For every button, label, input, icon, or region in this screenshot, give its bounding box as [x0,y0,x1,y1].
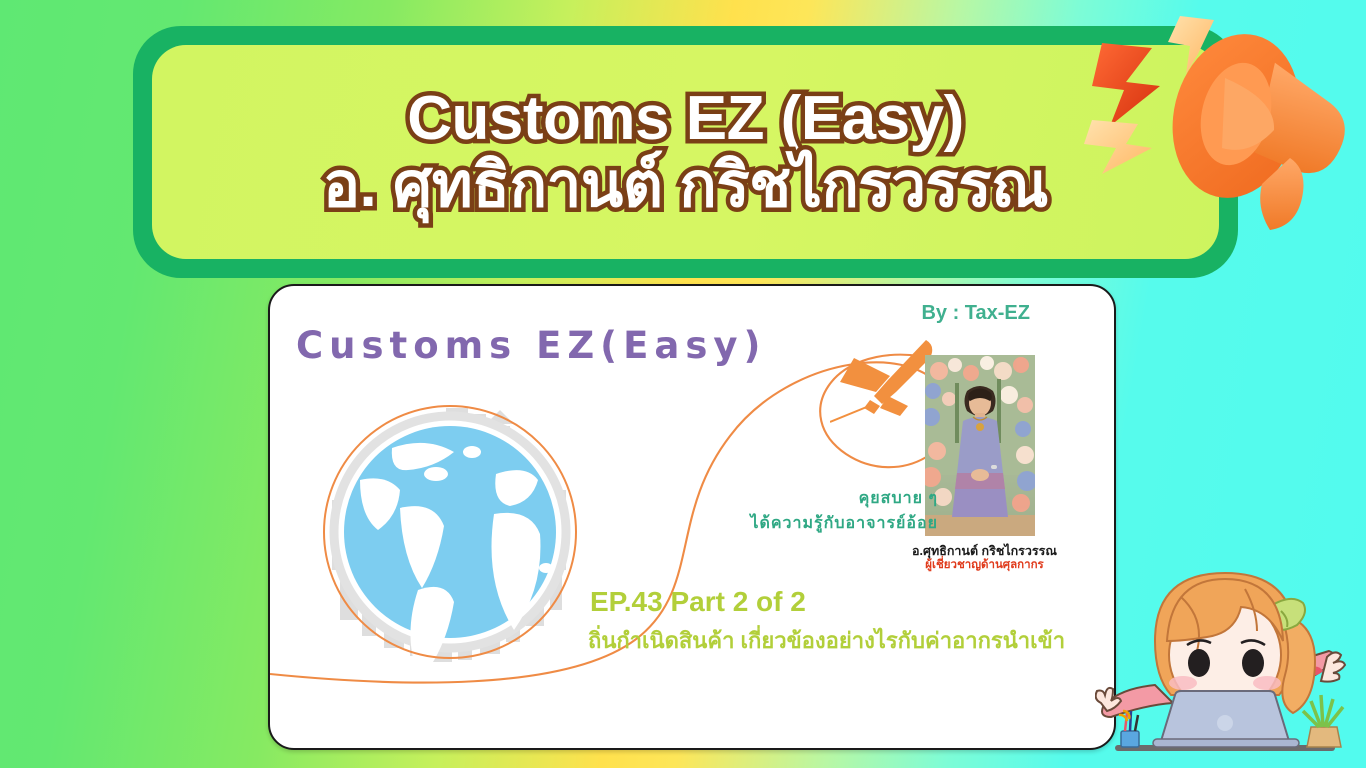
speaker-photo [925,355,1035,536]
banner-title-line-1: Customs EZ (Easy) [407,87,964,150]
tagline-line-2: ได้ความรู้กับอาจารย์อ้อย [630,511,938,536]
speaker-role: ผู้เชี่ยวชาญด้านศุลกากร [882,556,1087,574]
slide-card: Customs EZ(Easy) [268,284,1116,750]
banner-inner-panel: Customs EZ (Easy) อ. ศุทธิกานต์ กริชไกรว… [152,45,1219,259]
banner-title-line-2: อ. ศุทธิกานต์ กริชไกรวรรณ [323,154,1048,217]
globe-icon [300,382,600,682]
slide-title: Customs EZ(Easy) [296,324,766,367]
episode-title: EP.43 Part 2 of 2 [590,586,806,618]
episode-subtitle: ถิ่นกำเนิดสินค้า เกี่ยวข้องอย่างไรกับค่า… [588,623,1065,658]
title-banner: Customs EZ (Easy) อ. ศุทธิกานต์ กริชไกรว… [133,26,1238,278]
by-line: By : Tax-EZ [921,302,1030,325]
tagline-line-1: คุยสบาย ๆ [670,486,938,511]
